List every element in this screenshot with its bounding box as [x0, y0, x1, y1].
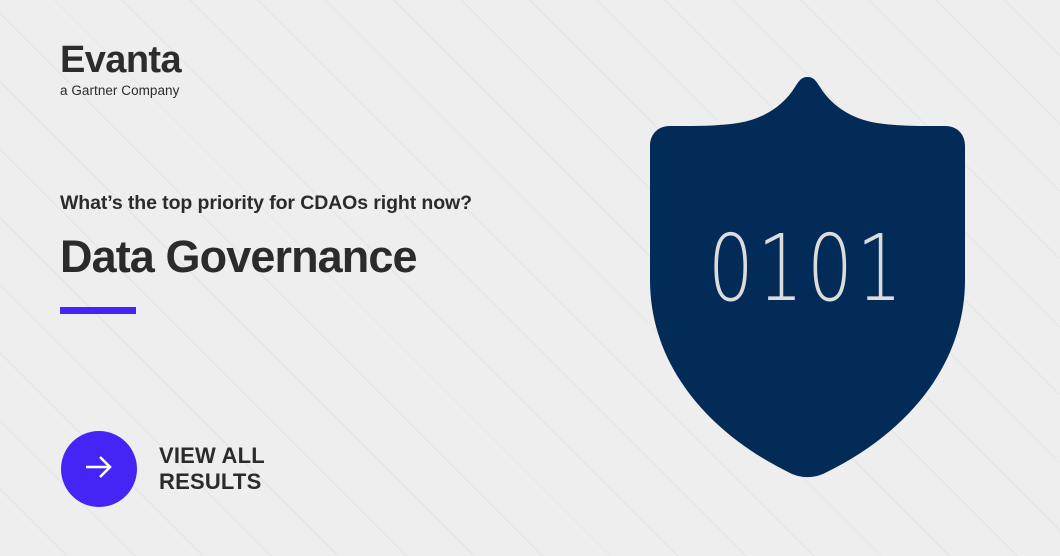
- logo-wordmark: Evanta: [60, 41, 320, 79]
- evanta-logo: Evanta a Gartner Company: [60, 41, 320, 98]
- accent-underline: [60, 307, 136, 314]
- cta-circle[interactable]: [61, 431, 137, 507]
- cta-label: VIEW ALL RESULTS: [159, 443, 265, 495]
- answer-headline: Data Governance: [60, 233, 600, 280]
- shield-icon: [645, 75, 970, 480]
- shield-graphic: 0101: [645, 75, 970, 480]
- question-text: What’s the top priority for CDAOs right …: [60, 192, 600, 215]
- logo-tagline: a Gartner Company: [60, 84, 320, 98]
- arrow-right-icon: [79, 447, 119, 492]
- copy-block: What’s the top priority for CDAOs right …: [60, 192, 600, 314]
- view-all-results-button[interactable]: VIEW ALL RESULTS: [61, 431, 265, 507]
- promo-card: Evanta a Gartner Company What’s the top …: [0, 0, 1060, 556]
